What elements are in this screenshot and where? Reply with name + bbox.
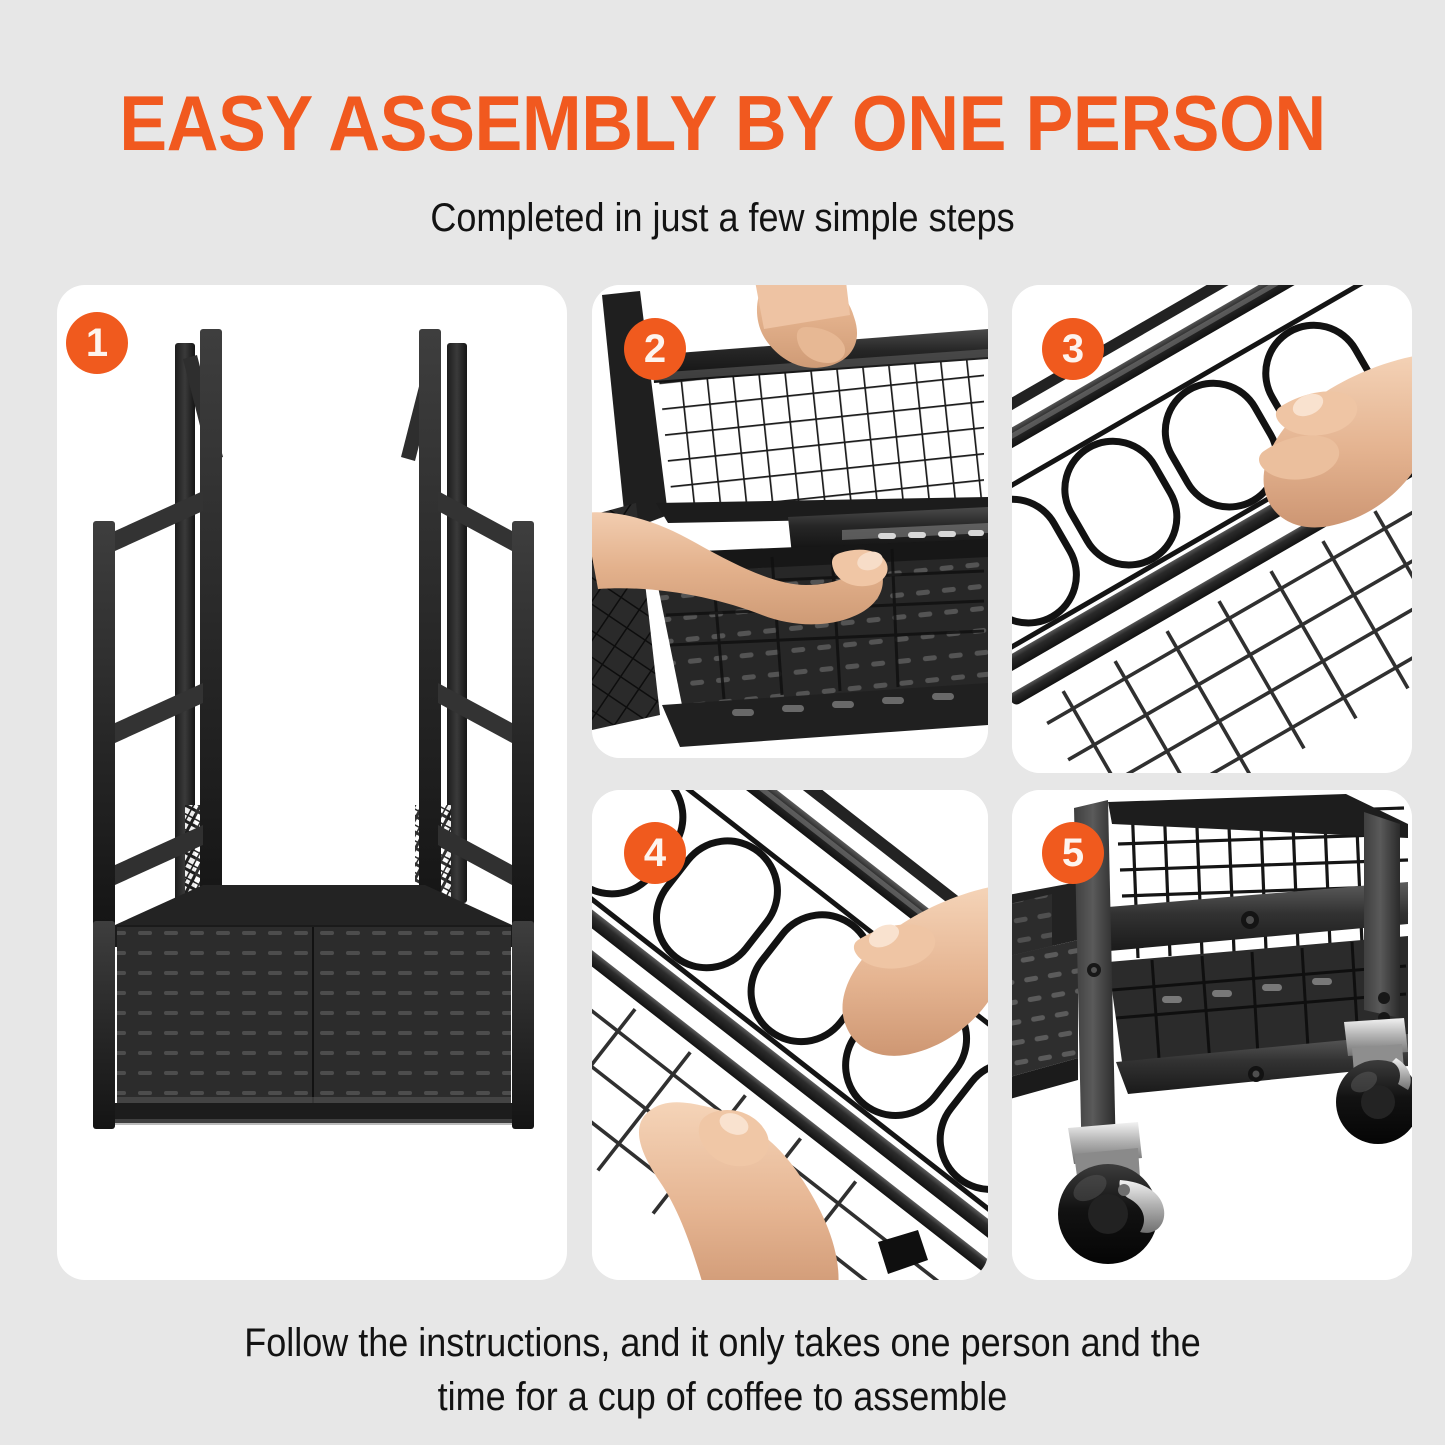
- step-badge-1: 1: [66, 312, 128, 374]
- step-badge-4: 4: [624, 822, 686, 884]
- step-badge-5: 5: [1042, 822, 1104, 884]
- footer-line-1: Follow the instructions, and it only tak…: [72, 1316, 1373, 1370]
- step-badge-3: 3: [1042, 318, 1104, 380]
- step-badge-2: 2: [624, 318, 686, 380]
- page-title: EASY ASSEMBLY BY ONE PERSON: [58, 84, 1387, 162]
- caster-rear: [1336, 1018, 1412, 1144]
- frame-base-illustration: [57, 285, 567, 1280]
- page-subtitle: Completed in just a few simple steps: [72, 196, 1373, 240]
- footer-caption: Follow the instructions, and it only tak…: [72, 1316, 1373, 1424]
- step-panel-1: [57, 285, 567, 1280]
- footer-line-2: time for a cup of coffee to assemble: [72, 1370, 1373, 1424]
- infographic-stage: EASY ASSEMBLY BY ONE PERSON Completed in…: [0, 0, 1445, 1445]
